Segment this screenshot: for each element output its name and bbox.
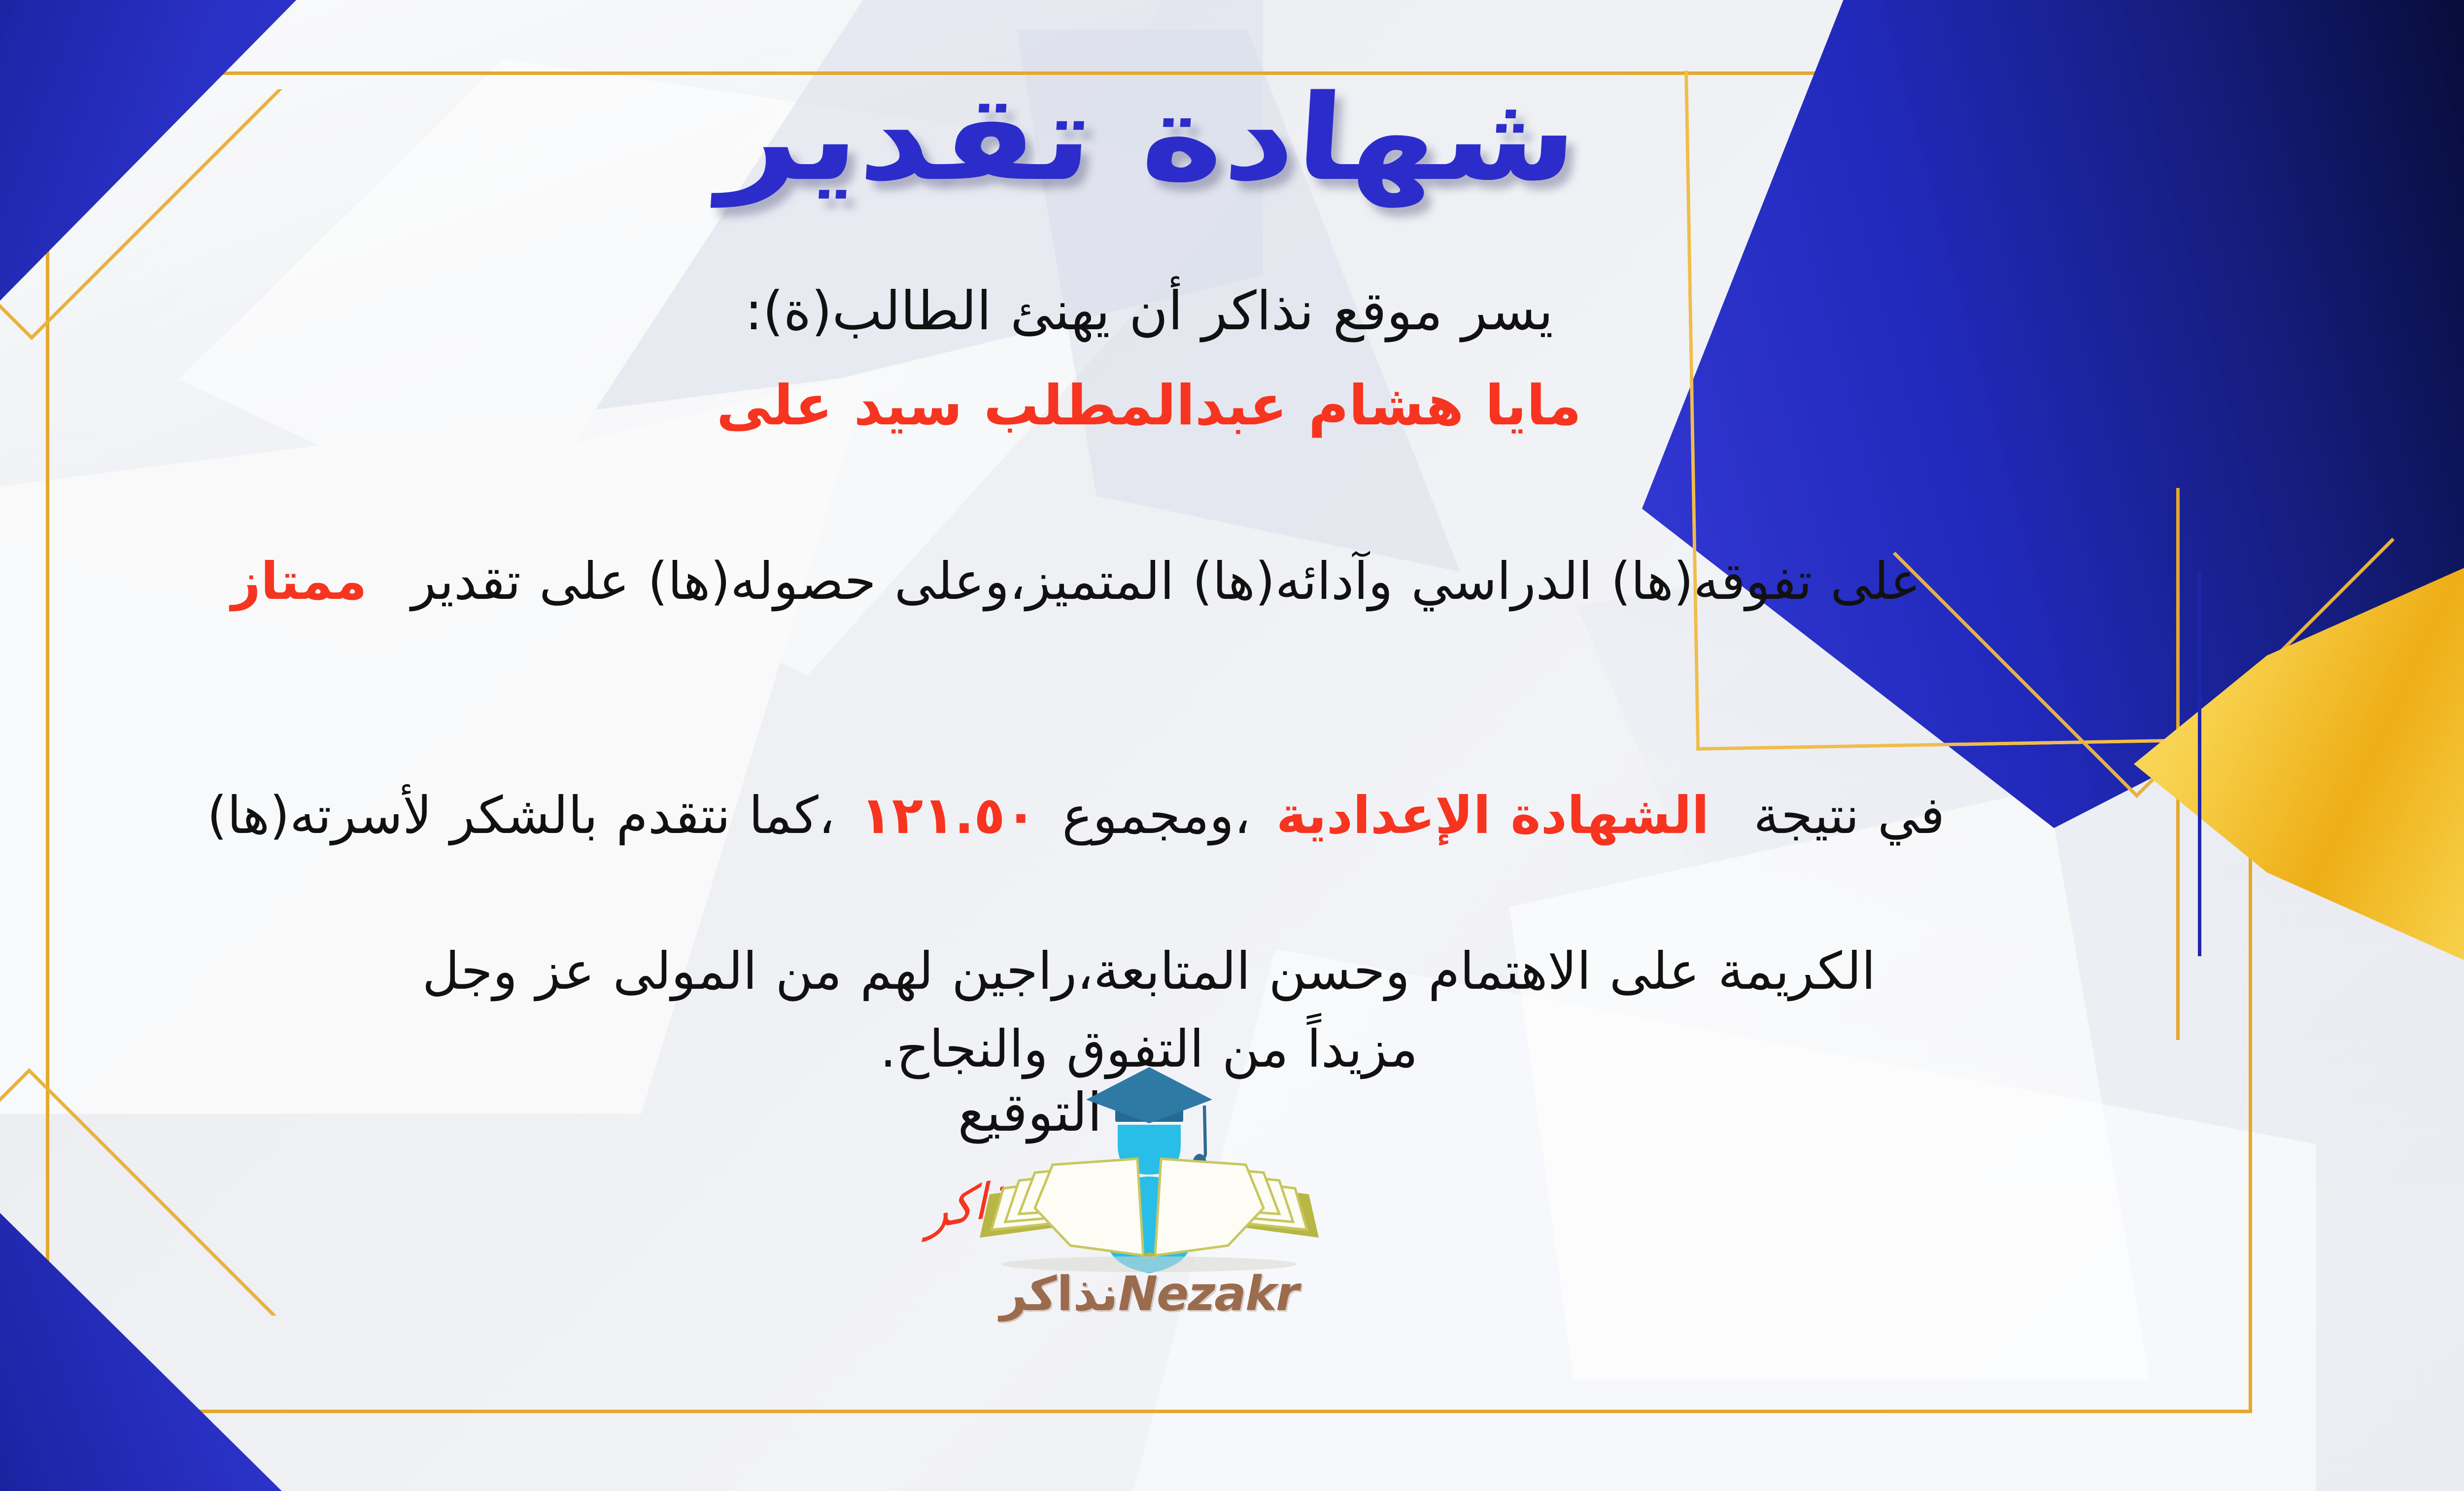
site-logo: Nezakrنذاكر xyxy=(962,1062,1336,1321)
exam-name: الشهادة الإعدادية xyxy=(1276,785,1710,845)
thanks-text: ،كما نتقدم بالشكر لأسرته(ها) xyxy=(207,785,835,845)
result-line: في نتيجةالشهادة الإعدادية،ومجموع١٢١.٥٠،ك… xyxy=(40,698,2258,932)
certificate-footer: التوقيع موقع نذاكر xyxy=(0,1082,2464,1397)
gratitude-line: الكريمة على الاهتمام وحسن المتابعة،راجين… xyxy=(40,932,2258,1010)
grade-value: ممتاز xyxy=(231,551,367,611)
achievement-text: على تفوقه(ها) الدراسي وآدائه(ها) المتميز… xyxy=(411,551,1921,611)
student-name: مايا هشام عبدالمطلب سيد على xyxy=(40,364,2258,448)
intro-line: يسر موقع نذاكر أن يهنئ الطالب(ة): xyxy=(40,271,2258,352)
logo-wordmark: Nezakrنذاكر xyxy=(962,1266,1336,1321)
certificate-body: يسر موقع نذاكر أن يهنئ الطالب(ة): مايا ه… xyxy=(40,271,2258,1088)
total-label: ،ومجموع xyxy=(1062,785,1251,845)
graduation-book-icon xyxy=(962,1062,1336,1274)
total-score: ١٢١.٥٠ xyxy=(860,785,1036,845)
certificate-title: شهادة تقدير xyxy=(717,79,1581,197)
logo-latin-text: Nezakr xyxy=(1118,1266,1298,1321)
logo-arabic-text: نذاكر xyxy=(1000,1266,1118,1321)
result-prefix: في نتيجة xyxy=(1753,785,1945,845)
achievement-line: على تفوقه(ها) الدراسي وآدائه(ها) المتميز… xyxy=(40,464,2258,698)
certificate-canvas: شهادة تقدير يسر موقع نذاكر أن يهنئ الطال… xyxy=(0,0,2464,1491)
